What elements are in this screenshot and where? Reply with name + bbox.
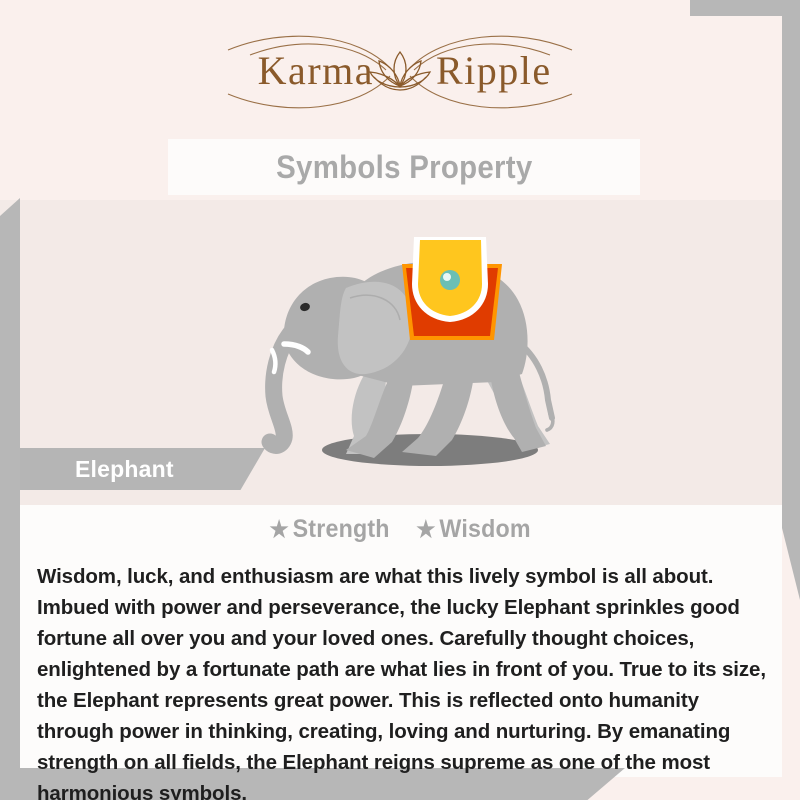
star-icon: ★: [416, 516, 435, 542]
trait-strength: ★Strength: [269, 515, 389, 544]
saddle-gem: [440, 270, 460, 290]
symbol-name-banner: Elephant: [20, 448, 265, 490]
page-title-band: Symbols Property: [168, 139, 640, 195]
symbol-card-page: Karma Ripple Symbols Property: [0, 0, 800, 800]
brand-name-right: Ripple: [436, 48, 552, 93]
brand-name-left: Karma: [258, 48, 374, 93]
trait-wisdom-label: Wisdom: [439, 515, 530, 543]
saddle-blanket: [402, 237, 502, 340]
trait-strength-label: Strength: [292, 515, 389, 543]
lotus-icon: [370, 52, 430, 90]
saddle-gem-highlight: [443, 273, 451, 281]
star-icon: ★: [269, 516, 288, 542]
symbol-name: Elephant: [75, 456, 174, 483]
trait-wisdom: ★Wisdom: [416, 515, 530, 544]
symbol-description: Wisdom, luck, and enthusiasm are what th…: [37, 561, 772, 800]
elephant-illustration: [250, 222, 600, 487]
brand-logo[interactable]: Karma Ripple: [0, 28, 800, 114]
frame-accent-left: [0, 198, 20, 800]
trait-list: ★Strength★Wisdom: [0, 515, 800, 544]
page-title: Symbols Property: [276, 149, 532, 186]
